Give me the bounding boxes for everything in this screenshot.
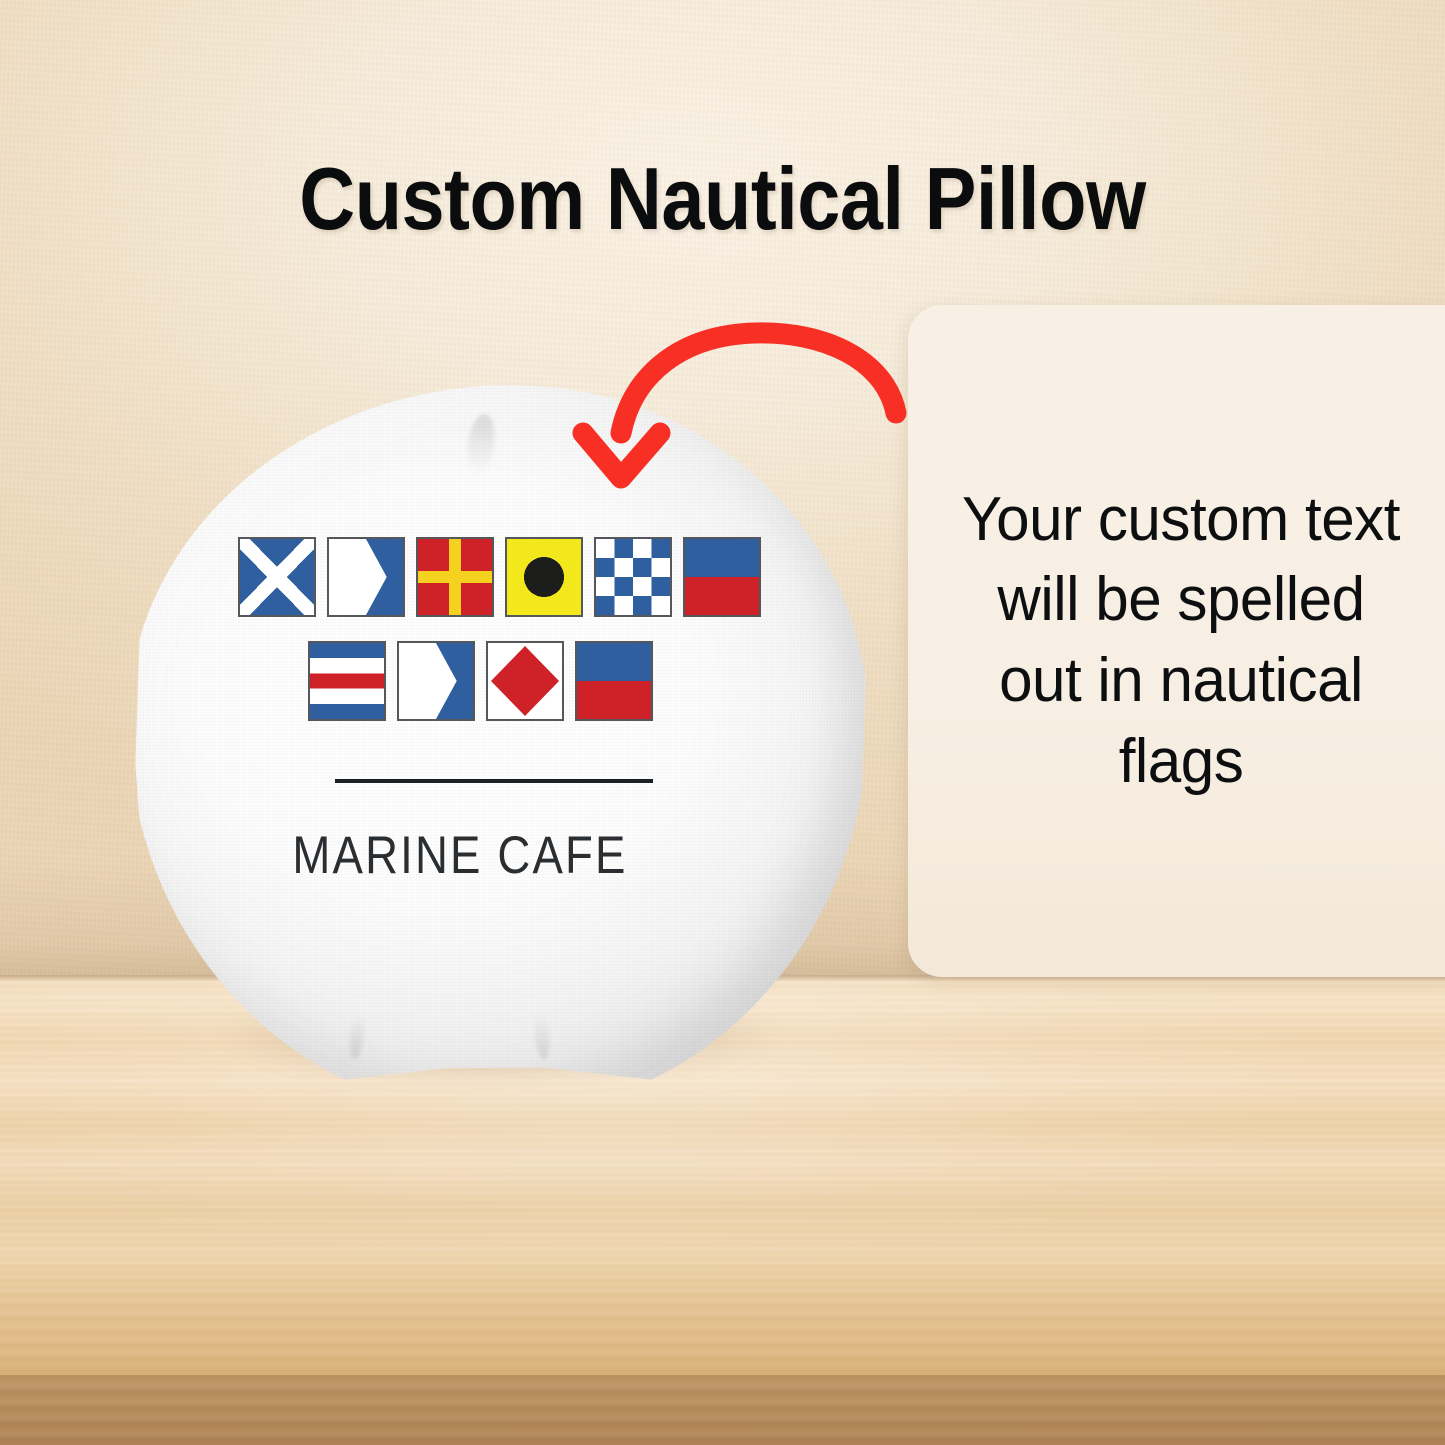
pillow-printed-design: MARINE CAFE [238,537,798,957]
flag-alfa [327,537,405,617]
flag-india [505,537,583,617]
flag-alfa [397,641,475,721]
design-divider-rule [335,779,653,783]
flag-november [594,537,672,617]
page-title: Custom Nautical Pillow [87,148,1359,250]
shelf-under-shadow [0,1375,1445,1445]
flag-foxtrot [486,641,564,721]
flag-echo [575,641,653,721]
flag-romeo [416,537,494,617]
flag-charlie [308,641,386,721]
flag-mike [238,537,316,617]
curved-arrow-icon [555,315,955,545]
flag-row-cafe [308,641,798,721]
callout-text: Your custom text will be spelled out in … [953,480,1409,802]
flag-echo [683,537,761,617]
flag-row-marine [238,537,798,617]
shelf-front-edge [0,1297,1445,1375]
pillow-brand-text: MARINE CAFE [269,825,651,886]
callout-card: Your custom text will be spelled out in … [908,305,1445,977]
